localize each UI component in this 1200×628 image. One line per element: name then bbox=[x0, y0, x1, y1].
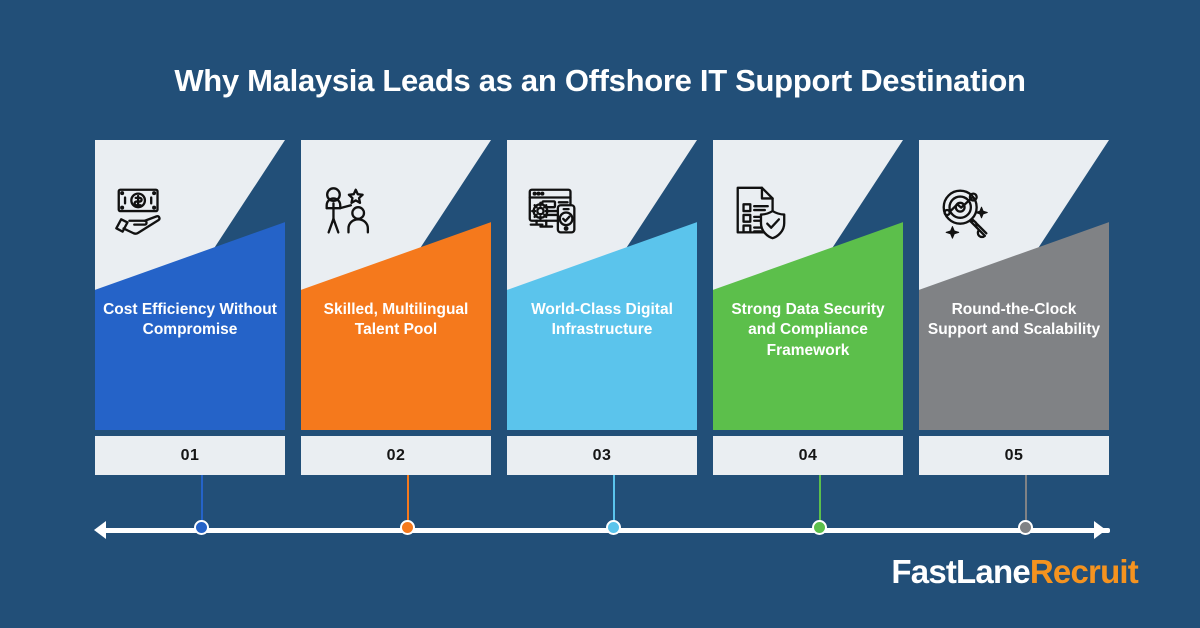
card-number: 01 bbox=[95, 436, 285, 475]
card-01[interactable]: Cost Efficiency Without Compromise 01 bbox=[95, 140, 285, 475]
timeline-dot-04[interactable] bbox=[812, 520, 827, 535]
card-title: Skilled, Multilingual Talent Pool bbox=[309, 300, 483, 341]
timeline-dot-02[interactable] bbox=[400, 520, 415, 535]
page-title: Why Malaysia Leads as an Offshore IT Sup… bbox=[0, 62, 1200, 99]
card-row: Cost Efficiency Without Compromise 01 bbox=[95, 140, 1109, 475]
card-03[interactable]: World-Class Digital Infrastructure 03 bbox=[507, 140, 697, 475]
card-title: World-Class Digital Infrastructure bbox=[515, 300, 689, 341]
card-number: 03 bbox=[507, 436, 697, 475]
monitor-gear-mobile-check-icon bbox=[523, 182, 585, 244]
card-title: Round-the-Clock Support and Scalability bbox=[927, 300, 1101, 341]
person-with-star-icon bbox=[317, 182, 379, 244]
card-number: 04 bbox=[713, 436, 903, 475]
arrow-left-icon bbox=[94, 521, 106, 539]
card-05[interactable]: Round-the-Clock Support and Scalability … bbox=[919, 140, 1109, 475]
card-title: Strong Data Security and Compliance Fram… bbox=[721, 300, 895, 361]
infographic-canvas: Why Malaysia Leads as an Offshore IT Sup… bbox=[0, 0, 1200, 628]
timeline-dot-01[interactable] bbox=[194, 520, 209, 535]
timeline-axis bbox=[100, 528, 1110, 533]
card-number: 02 bbox=[301, 436, 491, 475]
document-checklist-shield-icon bbox=[729, 182, 791, 244]
card-title: Cost Efficiency Without Compromise bbox=[103, 300, 277, 341]
logo-text-recruit: Recruit bbox=[1030, 553, 1138, 590]
money-in-hand-icon bbox=[111, 182, 173, 244]
card-04[interactable]: Strong Data Security and Compliance Fram… bbox=[713, 140, 903, 475]
magnifier-analytics-icon bbox=[935, 182, 997, 244]
arrow-right-icon bbox=[1094, 521, 1106, 539]
logo-text-fastlane: FastLane bbox=[891, 553, 1029, 590]
timeline-dot-05[interactable] bbox=[1018, 520, 1033, 535]
timeline-dot-03[interactable] bbox=[606, 520, 621, 535]
card-02[interactable]: Skilled, Multilingual Talent Pool 02 bbox=[301, 140, 491, 475]
brand-logo[interactable]: FastLaneRecruit bbox=[891, 553, 1138, 591]
card-number: 05 bbox=[919, 436, 1109, 475]
